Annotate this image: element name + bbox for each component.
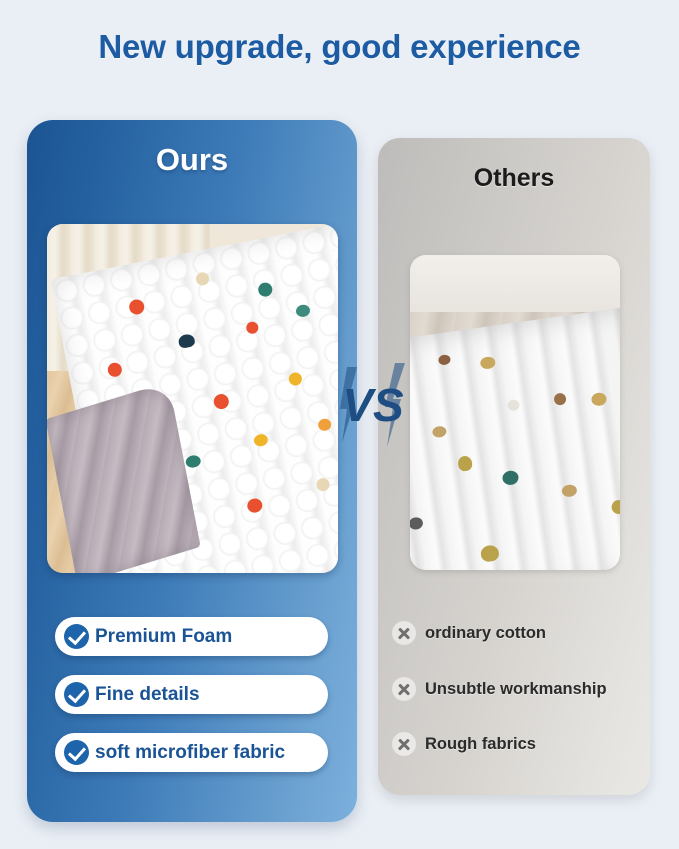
check-circle-icon bbox=[64, 624, 89, 649]
motif-flower-red bbox=[128, 298, 146, 316]
x-circle-icon bbox=[392, 677, 416, 701]
vs-badge-icon: VS bbox=[333, 355, 413, 455]
motif-flower-red bbox=[245, 321, 259, 335]
ours-card-heading: Ours bbox=[27, 142, 357, 178]
motif-leaf-olive bbox=[457, 455, 473, 472]
ours-photo-room-background bbox=[47, 224, 338, 573]
drawback-label: Unsubtle workmanship bbox=[425, 680, 607, 699]
motif-tree-green bbox=[501, 470, 519, 486]
others-photo-quilted-mat bbox=[410, 307, 620, 570]
motif-leaf-olive bbox=[610, 499, 620, 515]
vs-badge: VS bbox=[333, 355, 413, 455]
others-card: Others bbox=[378, 138, 650, 795]
drawback-row-rough-fabrics: Rough fabrics bbox=[392, 730, 642, 758]
ours-card: Ours bbox=[27, 120, 357, 822]
drawback-row-ordinary-cotton: ordinary cotton bbox=[392, 619, 642, 647]
motif-leaf-green bbox=[257, 281, 273, 297]
feature-pill-fine-details: Fine details bbox=[55, 675, 328, 714]
feature-pill-premium-foam: Premium Foam bbox=[55, 617, 328, 656]
motif-animal-gray bbox=[410, 517, 423, 531]
motif-flower-red bbox=[107, 362, 123, 378]
comparison-section: Ours bbox=[0, 0, 679, 849]
motif-flower-red bbox=[212, 393, 230, 411]
feature-label: soft microfiber fabric bbox=[95, 742, 285, 764]
motif-leaf-green bbox=[184, 454, 201, 469]
motif-leaf-green bbox=[294, 303, 310, 317]
motif-bird-navy bbox=[177, 333, 195, 349]
feature-pill-soft-microfiber-fabric: soft microfiber fabric bbox=[55, 733, 328, 772]
feature-label: Fine details bbox=[95, 684, 200, 706]
motif-animal-tan bbox=[480, 356, 497, 370]
motif-cream bbox=[195, 271, 210, 286]
motif-animal-tan bbox=[561, 484, 578, 498]
drawback-label: ordinary cotton bbox=[425, 624, 546, 643]
motif-leaf-olive bbox=[480, 544, 500, 562]
x-circle-icon bbox=[392, 621, 416, 645]
drawback-row-unsubtle-workmanship: Unsubtle workmanship bbox=[392, 675, 642, 703]
motif-carrot-orange bbox=[317, 417, 332, 431]
feature-label: Premium Foam bbox=[95, 626, 232, 648]
motif-animal-brown bbox=[437, 354, 450, 366]
motif-flower-yellow bbox=[288, 371, 303, 386]
others-photo-room-background bbox=[410, 255, 620, 570]
motif-animal-white bbox=[507, 399, 520, 412]
motif-cream bbox=[315, 477, 330, 492]
motif-animal-brown bbox=[553, 393, 567, 407]
motif-animal-tan bbox=[432, 426, 447, 439]
check-circle-icon bbox=[64, 682, 89, 707]
others-card-heading: Others bbox=[378, 164, 650, 193]
ours-product-photo bbox=[47, 224, 338, 573]
others-product-photo bbox=[410, 255, 620, 570]
vs-label: VS bbox=[342, 379, 404, 431]
motif-flower-yellow bbox=[253, 433, 269, 447]
x-circle-icon bbox=[392, 732, 416, 756]
motif-animal-tan bbox=[590, 392, 607, 407]
motif-flower-red bbox=[246, 497, 263, 514]
check-circle-icon bbox=[64, 740, 89, 765]
drawback-label: Rough fabrics bbox=[425, 735, 536, 754]
